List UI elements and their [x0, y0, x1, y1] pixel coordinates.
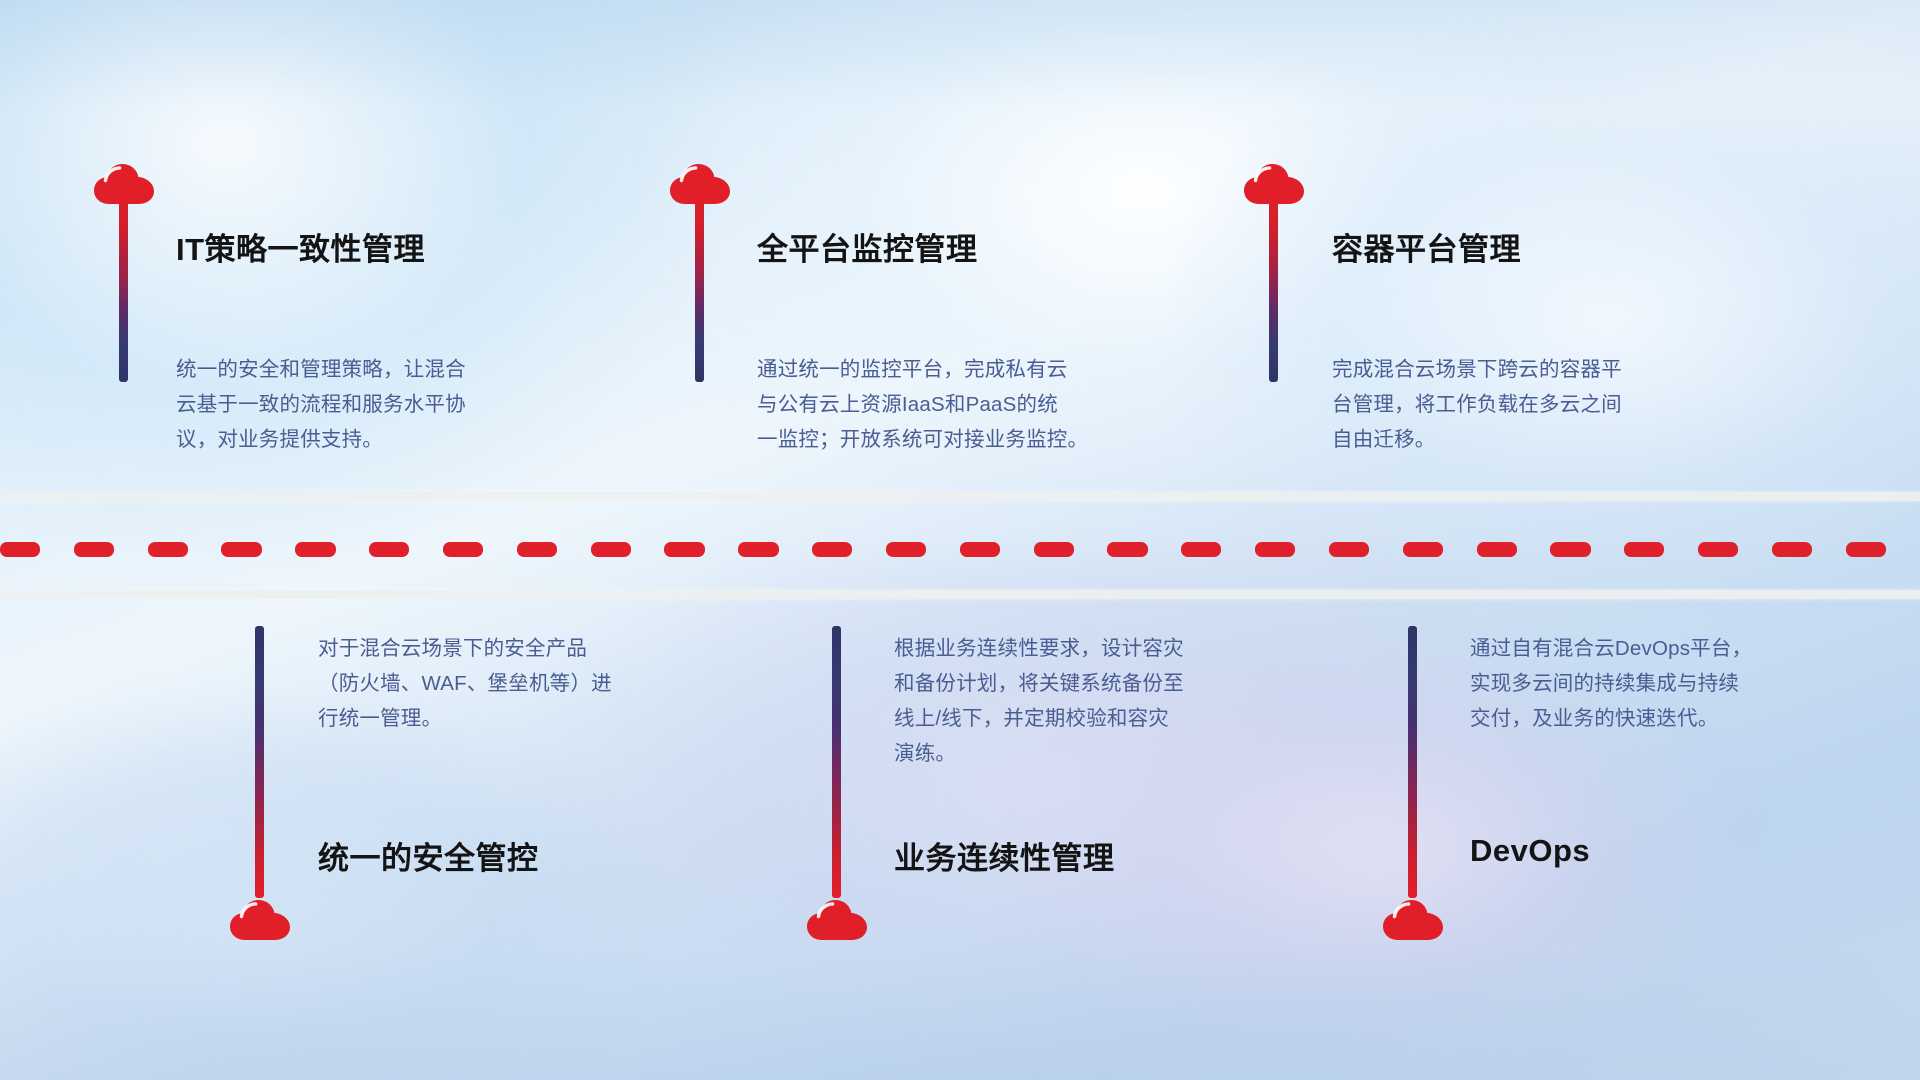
card-stem: [255, 626, 264, 898]
card-title: IT策略一致性管理: [176, 224, 425, 269]
road-center-dash: [1698, 542, 1738, 557]
card-title: 容器平台管理: [1332, 224, 1521, 269]
card-title: DevOps: [1470, 833, 1590, 869]
road-center-dash: [443, 542, 483, 557]
card-stem: [1269, 196, 1278, 382]
road-center-dash: [960, 542, 1000, 557]
road-center-dash: [1550, 542, 1590, 557]
road-center-dash: [591, 542, 631, 557]
road-edge-top: [0, 492, 1920, 501]
card-body: 根据业务连续性要求，设计容灾 和备份计划，将关键系统备份至 线上/线下，并定期校…: [894, 631, 1324, 771]
road-center-dash: [664, 542, 704, 557]
card-body: 对于混合云场景下的安全产品 （防火墙、WAF、堡垒机等）进 行统一管理。: [318, 631, 748, 736]
road-center-dash: [148, 542, 188, 557]
road-center-dash: [1255, 542, 1295, 557]
road-center-dash: [1624, 542, 1664, 557]
cloud-icon: [1382, 896, 1444, 942]
road-center-dash: [74, 542, 114, 557]
road-center-dash: [1181, 542, 1221, 557]
road-center-dash: [738, 542, 778, 557]
card-title: 全平台监控管理: [757, 224, 978, 269]
road-edge-bottom: [0, 590, 1920, 599]
card-stem: [1408, 626, 1417, 898]
card-stem: [832, 626, 841, 898]
road-center-dash: [1034, 542, 1074, 557]
road-center-dash: [1403, 542, 1443, 557]
card-body: 通过自有混合云DevOps平台， 实现多云间的持续集成与持续 交付，及业务的快速…: [1470, 631, 1900, 736]
infographic-canvas: IT策略一致性管理 统一的安全和管理策略，让混合 云基于一致的流程和服务水平协 …: [0, 0, 1920, 1080]
road-center-dash: [1772, 542, 1812, 557]
road-center-dash: [295, 542, 335, 557]
road-center-dash: [1107, 542, 1147, 557]
road-center-dash: [369, 542, 409, 557]
road-center-dash: [812, 542, 852, 557]
road-center-dash: [1477, 542, 1517, 557]
card-body: 统一的安全和管理策略，让混合 云基于一致的流程和服务水平协 议，对业务提供支持。: [176, 352, 606, 457]
road-center-dash: [517, 542, 557, 557]
card-stem: [695, 196, 704, 382]
card-body: 通过统一的监控平台，完成私有云 与公有云上资源IaaS和PaaS的统 一监控；开…: [757, 352, 1207, 457]
card-body: 完成混合云场景下跨云的容器平 台管理，将工作负载在多云之间 自由迁移。: [1332, 352, 1762, 457]
card-stem: [119, 196, 128, 382]
road-center-dash: [1329, 542, 1369, 557]
card-title: 业务连续性管理: [894, 833, 1115, 878]
cloud-icon: [806, 896, 868, 942]
card-title: 统一的安全管控: [318, 833, 539, 878]
road-center-dash: [221, 542, 261, 557]
road-center-line: [0, 541, 1920, 557]
road-center-dash: [886, 542, 926, 557]
road-center-dash: [0, 542, 40, 557]
road-center-dash: [1846, 542, 1886, 557]
cloud-icon: [229, 896, 291, 942]
